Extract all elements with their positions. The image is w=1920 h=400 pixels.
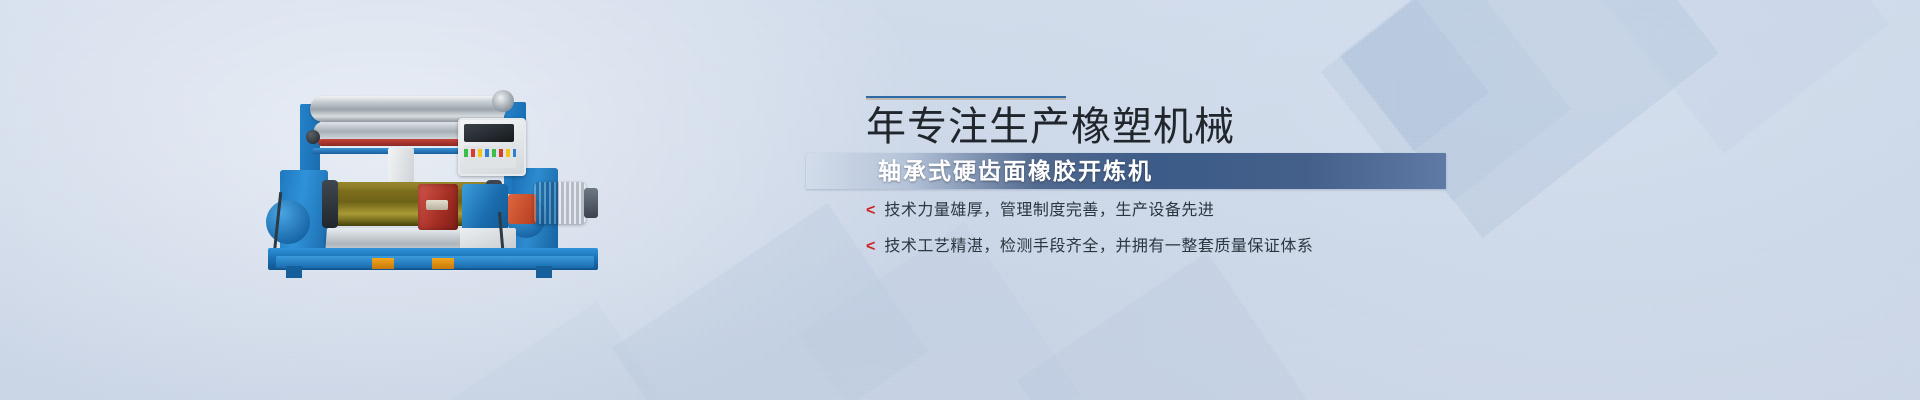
product-name-label: 轴承式硬齿面橡胶开炼机 <box>878 153 1153 189</box>
chevron-left-icon: < <box>866 239 875 255</box>
chevron-left-icon: < <box>866 203 875 219</box>
feature-list-item: < 技术力量雄厚，管理制度完善，生产设备先进 <box>866 200 1326 222</box>
feature-list-item-text: 技术工艺精湛，检测手段齐全，并拥有一整套质量保证体系 <box>884 236 1313 258</box>
promo-banner: 年专注生产橡塑机械 轴承式硬齿面橡胶开炼机 < 技术力量雄厚，管理制度完善，生产… <box>0 0 1920 400</box>
feature-list: < 技术力量雄厚，管理制度完善，生产设备先进 < 技术工艺精湛，检测手段齐全，并… <box>866 200 1326 272</box>
banner-headline: 年专注生产橡塑机械 <box>866 104 1186 150</box>
banner-copy: 年专注生产橡塑机械 轴承式硬齿面橡胶开炼机 < 技术力量雄厚，管理制度完善，生产… <box>0 0 1920 400</box>
feature-list-item: < 技术工艺精湛，检测手段齐全，并拥有一整套质量保证体系 <box>866 236 1326 258</box>
headline-divider <box>866 96 1066 98</box>
product-name-band: 轴承式硬齿面橡胶开炼机 <box>806 153 1446 189</box>
feature-list-item-text: 技术力量雄厚，管理制度完善，生产设备先进 <box>884 200 1214 222</box>
